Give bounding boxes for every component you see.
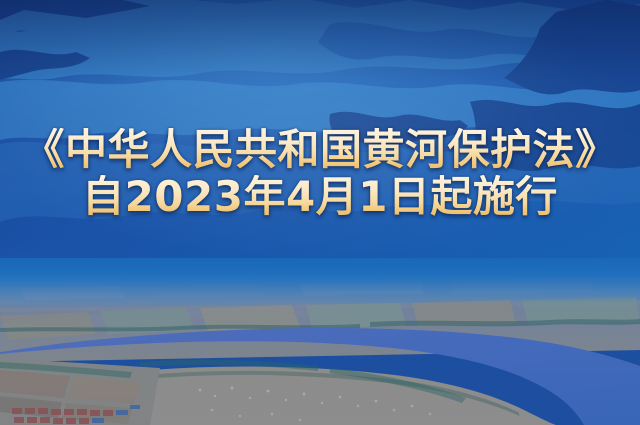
headline-line-2: 自2023年4月1日起施行 bbox=[0, 175, 640, 220]
headline: 《中华人民共和国黄河保护法》 自2023年4月1日起施行 bbox=[0, 128, 640, 219]
headline-line-1: 《中华人民共和国黄河保护法》 bbox=[0, 128, 640, 173]
river-landscape-photo bbox=[0, 258, 640, 425]
poster: 《中华人民共和国黄河保护法》 自2023年4月1日起施行 bbox=[0, 0, 640, 425]
